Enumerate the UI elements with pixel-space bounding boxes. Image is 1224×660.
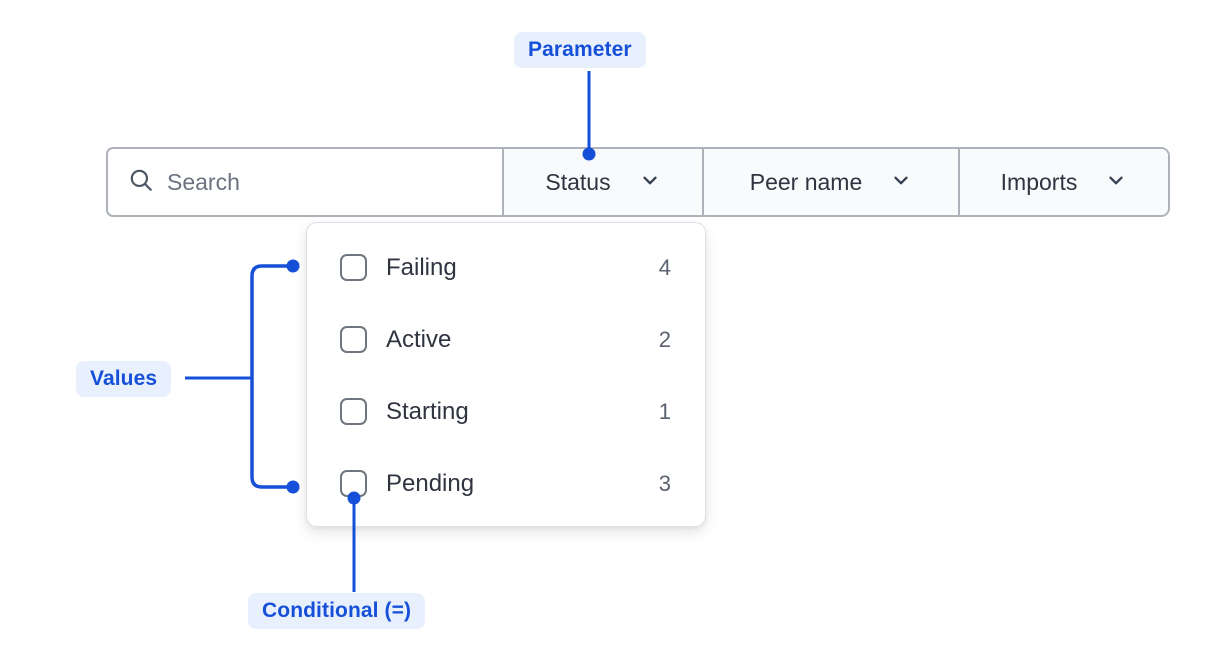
dropdown-option-label: Starting: [386, 400, 659, 424]
checkbox-icon[interactable]: [340, 326, 367, 353]
values-bracket-path: [252, 266, 291, 487]
dropdown-option-failing[interactable]: Failing 4: [307, 245, 705, 290]
checkbox-icon[interactable]: [340, 398, 367, 425]
annotation-badge-conditional: Conditional (=): [248, 593, 425, 629]
dropdown-option-count: 4: [659, 257, 671, 279]
values-connector-dot-bottom: [287, 481, 300, 494]
filter-toolbar: Search Status Peer name Imports: [106, 147, 1170, 217]
annotation-badge-values: Values: [76, 361, 171, 397]
dropdown-option-label: Failing: [386, 256, 659, 280]
filter-dropdown-status[interactable]: Status: [504, 149, 704, 215]
dropdown-option-count: 2: [659, 329, 671, 351]
chevron-down-icon: [639, 169, 661, 196]
checkbox-icon[interactable]: [340, 470, 367, 497]
chevron-down-icon: [1105, 169, 1127, 196]
dropdown-option-starting[interactable]: Starting 1: [307, 389, 705, 434]
status-filter-dropdown-panel: Failing 4 Active 2 Starting 1 Pending 3: [306, 222, 706, 527]
dropdown-option-count: 1: [659, 401, 671, 423]
annotation-badge-parameter: Parameter: [514, 32, 646, 68]
filter-label-status: Status: [545, 171, 610, 194]
filter-label-imports: Imports: [1001, 171, 1078, 194]
filter-dropdown-peer-name[interactable]: Peer name: [704, 149, 960, 215]
checkbox-icon[interactable]: [340, 254, 367, 281]
dropdown-option-label: Pending: [386, 472, 659, 496]
dropdown-option-count: 3: [659, 473, 671, 495]
search-input[interactable]: Search: [106, 147, 504, 217]
dropdown-option-active[interactable]: Active 2: [307, 317, 705, 362]
chevron-down-icon: [890, 169, 912, 196]
dropdown-option-label: Active: [386, 328, 659, 352]
dropdown-option-pending[interactable]: Pending 3: [307, 461, 705, 506]
filter-label-peer-name: Peer name: [750, 171, 863, 194]
filter-dropdown-imports[interactable]: Imports: [960, 149, 1168, 215]
search-icon: [128, 167, 154, 198]
values-connector-dot-top: [287, 260, 300, 273]
search-placeholder-text: Search: [167, 171, 240, 194]
